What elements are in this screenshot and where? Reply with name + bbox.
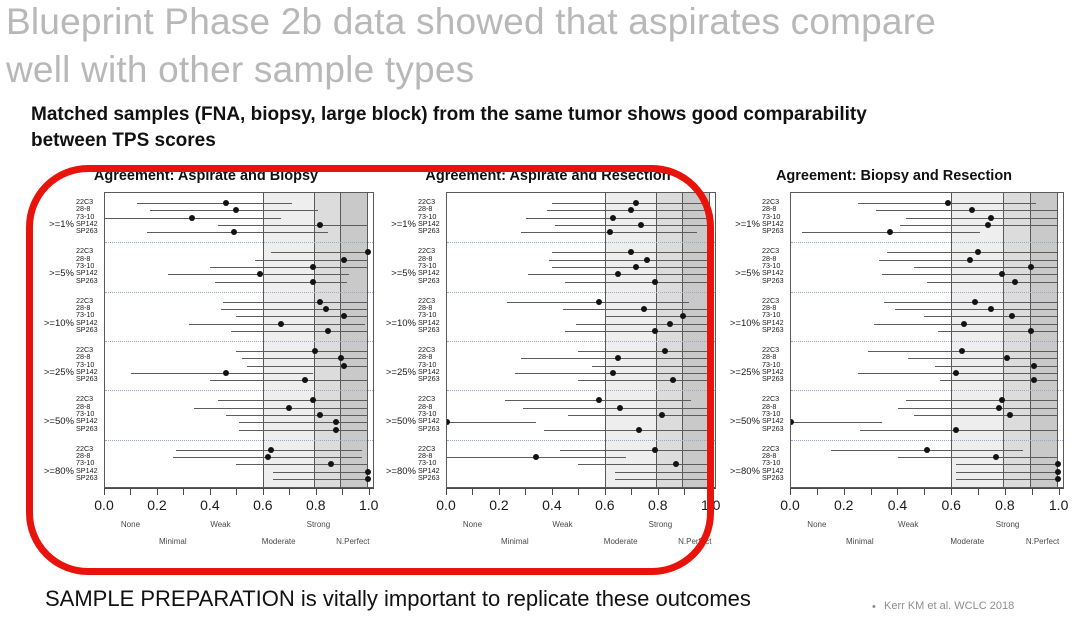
- threshold-label: >=5%: [378, 268, 416, 279]
- data-point: [662, 348, 668, 354]
- agreement-category-label: Moderate: [262, 537, 296, 546]
- axis-tick-label: 1.0: [359, 497, 378, 513]
- confidence-interval-line: [605, 316, 710, 317]
- assay-label: SP263: [76, 227, 104, 234]
- band-n-perfect: [1031, 193, 1058, 487]
- axis-tick-label: 0.0: [780, 497, 799, 513]
- band-n-perfect: [683, 193, 709, 487]
- threshold-label: >=1%: [36, 219, 74, 230]
- axis-tick-label: 0.8: [648, 497, 667, 513]
- axis-tick: [552, 488, 553, 495]
- agreement-category-label: Weak: [210, 520, 230, 529]
- row-labels: >=1%22C328-873-10SP142SP263>=5%22C328-87…: [36, 192, 104, 488]
- confidence-interval-line: [555, 225, 710, 226]
- assay-label: SP263: [762, 277, 790, 284]
- band-moderate: [605, 193, 658, 487]
- threshold-label: >=50%: [722, 416, 760, 427]
- group-divider: [447, 390, 715, 391]
- confidence-interval-line: [898, 457, 1058, 458]
- citation: Kerr KM et al. WCLC 2018: [884, 600, 1014, 612]
- row-labels: >=1%22C328-873-10SP142SP263>=5%22C328-87…: [722, 192, 790, 488]
- agreement-category-label: Moderate: [950, 537, 984, 546]
- chart-panel-aspirate-resection: Agreement: Aspirate and Resection >=1%22…: [378, 168, 718, 558]
- assay-label: SP263: [762, 474, 790, 481]
- axis-tick: [525, 488, 526, 495]
- data-point: [1007, 412, 1013, 418]
- confidence-interval-line: [935, 366, 1058, 367]
- threshold-label: >=10%: [722, 318, 760, 329]
- confidence-interval-line: [578, 380, 709, 381]
- data-point: [265, 454, 271, 460]
- data-point: [972, 299, 978, 305]
- axis-tick-label: 0.8: [995, 497, 1014, 513]
- confidence-interval-line: [791, 422, 882, 423]
- data-point: [707, 476, 713, 482]
- data-point: [1031, 363, 1037, 369]
- agreement-category-label: Minimal: [846, 537, 874, 546]
- data-point: [1028, 264, 1034, 270]
- confidence-interval-line: [239, 430, 368, 431]
- axis-tick-label: 0.4: [542, 497, 561, 513]
- group-divider: [791, 341, 1063, 342]
- axis-tick: [951, 488, 952, 495]
- data-point: [231, 229, 237, 235]
- axis-tick: [978, 488, 979, 495]
- axis-tick: [342, 488, 343, 495]
- axis-tick-label: 0.6: [595, 497, 614, 513]
- data-point: [999, 397, 1005, 403]
- confidence-interval-line: [592, 366, 710, 367]
- chart-panel-biopsy-resection: Agreement: Biopsy and Resection >=1%22C3…: [722, 168, 1066, 558]
- assay-label: SP263: [418, 227, 446, 234]
- data-point: [967, 257, 973, 263]
- agreement-category-label: Weak: [552, 520, 572, 529]
- axis-tick-label: 0.2: [489, 497, 508, 513]
- confidence-interval-line: [526, 218, 710, 219]
- data-point: [268, 447, 274, 453]
- assay-label: SP263: [418, 425, 446, 432]
- axis-tick: [499, 488, 500, 495]
- data-point: [641, 306, 647, 312]
- axis-tick: [711, 488, 712, 495]
- axis-tick: [871, 488, 872, 495]
- axis-tick: [130, 488, 131, 495]
- confidence-interval-line: [552, 267, 710, 268]
- threshold-label: >=10%: [378, 318, 416, 329]
- agreement-category-label: Strong: [996, 520, 1020, 529]
- assay-label: SP263: [76, 474, 104, 481]
- confidence-interval-line: [956, 479, 1057, 480]
- confidence-interval-line: [940, 380, 1057, 381]
- axis-line: [790, 488, 1064, 489]
- data-point: [1055, 461, 1061, 467]
- chart-panel-aspirate-biopsy: Agreement: Aspirate and Biopsy >=1%22C32…: [36, 168, 376, 558]
- confidence-interval-line: [887, 252, 1058, 253]
- axis-tick: [472, 488, 473, 495]
- axis-tick-label: 0.6: [941, 497, 960, 513]
- axis-tick: [844, 488, 845, 495]
- group-divider: [447, 242, 715, 243]
- assay-label: SP263: [76, 277, 104, 284]
- chart-title: Agreement: Aspirate and Biopsy: [36, 168, 376, 184]
- data-point: [223, 200, 229, 206]
- confidence-interval-line: [242, 358, 368, 359]
- confidence-interval-line: [938, 331, 1058, 332]
- plot-area: >=1%22C328-873-10SP142SP263>=5%22C328-87…: [378, 192, 718, 558]
- threshold-label: >=50%: [378, 416, 416, 427]
- row-labels: >=1%22C328-873-10SP142SP263>=5%22C328-87…: [378, 192, 446, 488]
- agreement-category-label: Moderate: [604, 537, 638, 546]
- assay-label: SP263: [418, 375, 446, 382]
- confidence-interval-line: [447, 422, 536, 423]
- band-moderate: [951, 193, 1004, 487]
- data-point: [310, 397, 316, 403]
- data-point: [673, 461, 679, 467]
- confidence-interval-line: [271, 252, 368, 253]
- confidence-interval-line: [218, 225, 368, 226]
- data-point: [341, 257, 347, 263]
- axis-tick: [817, 488, 818, 495]
- confidence-interval-line: [226, 415, 368, 416]
- bullet-icon: •: [872, 601, 876, 613]
- threshold-label: >=80%: [36, 466, 74, 477]
- axis-tick: [790, 488, 791, 495]
- axis-tick-label: 0.4: [888, 497, 907, 513]
- band-strong: [657, 193, 683, 487]
- data-point: [975, 249, 981, 255]
- threshold-label: >=50%: [36, 416, 74, 427]
- group-divider: [791, 390, 1063, 391]
- confidence-interval-line: [927, 282, 1058, 283]
- confidence-interval-line: [956, 464, 1057, 465]
- plot-area: >=1%22C328-873-10SP142SP263>=5%22C328-87…: [722, 192, 1066, 558]
- data-point: [652, 447, 658, 453]
- data-point: [233, 207, 239, 213]
- confidence-interval-line: [884, 302, 1057, 303]
- threshold-label: >=25%: [36, 367, 74, 378]
- confidence-interval-line: [615, 472, 710, 473]
- threshold-label: >=80%: [722, 466, 760, 477]
- data-point: [988, 306, 994, 312]
- group-divider: [791, 242, 1063, 243]
- axis-tick: [897, 488, 898, 495]
- data-point: [365, 469, 371, 475]
- data-point: [1055, 476, 1061, 482]
- confidence-interval-line: [231, 331, 368, 332]
- data-point: [996, 405, 1002, 411]
- group-divider: [447, 341, 715, 342]
- agreement-category-label: None: [463, 520, 482, 529]
- assay-label: SP263: [418, 277, 446, 284]
- axis-tick: [316, 488, 317, 495]
- data-point: [887, 229, 893, 235]
- axis-tick-label: 0.4: [200, 497, 219, 513]
- agreement-category-label: N.Perfect: [1026, 537, 1059, 546]
- data-point: [707, 363, 713, 369]
- assay-label: SP263: [76, 425, 104, 432]
- data-point: [610, 215, 616, 221]
- data-point: [636, 427, 642, 433]
- chart-title: Agreement: Biopsy and Resection: [722, 168, 1066, 184]
- data-point: [446, 419, 450, 425]
- agreement-category-label: Strong: [307, 520, 331, 529]
- confidence-interval-line: [239, 422, 368, 423]
- data-point: [988, 215, 994, 221]
- data-point: [652, 279, 658, 285]
- assay-label: SP263: [76, 375, 104, 382]
- confidence-interval-line: [137, 203, 292, 204]
- confidence-interval-line: [221, 309, 368, 310]
- axis-tick-label: 0.0: [94, 497, 113, 513]
- confidence-interval-line: [615, 479, 710, 480]
- confidence-interval-line: [552, 203, 710, 204]
- agreement-category-label: Weak: [898, 520, 918, 529]
- data-point: [310, 279, 316, 285]
- confidence-interval-line: [908, 358, 1057, 359]
- assay-label: SP263: [418, 474, 446, 481]
- confidence-interval-line: [273, 479, 368, 480]
- plot-area: >=1%22C328-873-10SP142SP263>=5%22C328-87…: [36, 192, 376, 558]
- agreement-category-label: Minimal: [159, 537, 187, 546]
- axis-tick: [924, 488, 925, 495]
- data-point: [596, 397, 602, 403]
- axis-tick-label: 0.8: [306, 497, 325, 513]
- page-title: Blueprint Phase 2b data showed that aspi…: [6, 0, 1076, 94]
- axis-tick: [183, 488, 184, 495]
- confidence-interval-line: [218, 400, 368, 401]
- agreement-category-label: Strong: [649, 520, 673, 529]
- confidence-interval-line: [576, 324, 710, 325]
- confidence-interval-line: [549, 260, 709, 261]
- assay-label: SP263: [418, 326, 446, 333]
- threshold-label: >=1%: [378, 219, 416, 230]
- confidence-interval-line: [565, 282, 710, 283]
- agreement-category-label: None: [807, 520, 826, 529]
- data-point: [278, 321, 284, 327]
- confidence-interval-line: [578, 464, 709, 465]
- plot-box: [790, 192, 1064, 488]
- agreement-category-label: N.Perfect: [336, 537, 369, 546]
- confidence-interval-line: [223, 302, 368, 303]
- band-moderate: [263, 193, 316, 487]
- confidence-interval-line: [255, 260, 368, 261]
- confidence-interval-line: [876, 210, 1057, 211]
- confidence-interval-line: [544, 430, 710, 431]
- group-divider: [447, 292, 715, 293]
- confidence-interval-line: [563, 309, 710, 310]
- confidence-interval-line: [236, 351, 367, 352]
- data-point: [644, 257, 650, 263]
- threshold-label: >=25%: [722, 367, 760, 378]
- data-point: [310, 264, 316, 270]
- axis-tick: [605, 488, 606, 495]
- data-point: [341, 363, 347, 369]
- axis-tick-label: 1.0: [701, 497, 720, 513]
- axis-tick: [210, 488, 211, 495]
- confidence-interval-line: [956, 472, 1057, 473]
- confidence-interval-line: [194, 408, 367, 409]
- assay-label: SP263: [762, 425, 790, 432]
- assay-label: SP263: [762, 375, 790, 382]
- assay-label: SP263: [762, 227, 790, 234]
- group-divider: [447, 440, 715, 441]
- confidence-interval-line: [914, 267, 1058, 268]
- data-point: [633, 200, 639, 206]
- agreement-category-label: N.Perfect: [678, 537, 711, 546]
- data-point: [533, 454, 539, 460]
- x-axis: 0.00.20.40.60.81.0NoneWeakStrongMinimalM…: [790, 488, 1064, 558]
- data-point: [223, 370, 229, 376]
- group-divider: [105, 341, 373, 342]
- confidence-interval-line: [273, 472, 368, 473]
- data-point: [333, 427, 339, 433]
- data-point: [924, 447, 930, 453]
- axis-tick-label: 0.0: [436, 497, 455, 513]
- axis-tick: [236, 488, 237, 495]
- x-axis: 0.00.20.40.60.81.0NoneWeakStrongMinimalM…: [446, 488, 716, 558]
- confidence-interval-line: [236, 316, 367, 317]
- band-strong: [315, 193, 341, 487]
- data-point: [286, 405, 292, 411]
- axis-tick: [157, 488, 158, 495]
- data-point: [596, 299, 602, 305]
- confidence-interval-line: [236, 464, 367, 465]
- data-point: [1012, 279, 1018, 285]
- confidence-interval-line: [578, 351, 709, 352]
- confidence-interval-line: [924, 316, 1057, 317]
- confidence-interval-line: [906, 400, 1058, 401]
- confidence-interval-line: [210, 267, 368, 268]
- axis-tick: [104, 488, 105, 495]
- x-axis: 0.00.20.40.60.81.0NoneWeakStrongMinimalM…: [104, 488, 374, 558]
- threshold-label: >=5%: [722, 268, 760, 279]
- slide-subtitle: Matched samples (FNA, biopsy, large bloc…: [31, 102, 1073, 154]
- slide-footer-text: SAMPLE PREPARATION is vitally important …: [45, 586, 751, 612]
- data-point: [610, 370, 616, 376]
- threshold-label: >=10%: [36, 318, 74, 329]
- confidence-interval-line: [560, 450, 710, 451]
- confidence-interval-line: [906, 218, 1058, 219]
- confidence-interval-line: [882, 274, 1058, 275]
- assay-label: SP263: [76, 326, 104, 333]
- data-point: [959, 348, 965, 354]
- confidence-interval-line: [131, 373, 312, 374]
- confidence-interval-line: [898, 408, 1058, 409]
- data-point: [790, 419, 794, 425]
- data-point: [365, 476, 371, 482]
- group-divider: [791, 292, 1063, 293]
- group-divider: [105, 242, 373, 243]
- confidence-interval-line: [247, 366, 368, 367]
- axis-tick: [658, 488, 659, 495]
- confidence-interval-line: [900, 225, 1057, 226]
- group-divider: [105, 292, 373, 293]
- axis-tick-label: 0.2: [834, 497, 853, 513]
- agreement-category-label: None: [121, 520, 140, 529]
- group-divider: [105, 440, 373, 441]
- axis-tick-label: 0.2: [147, 497, 166, 513]
- axis-tick: [1032, 488, 1033, 495]
- data-point: [652, 328, 658, 334]
- axis-line: [104, 488, 374, 489]
- confidence-interval-line: [210, 380, 368, 381]
- assay-label: SP263: [762, 326, 790, 333]
- confidence-interval-line: [568, 415, 710, 416]
- axis-tick: [578, 488, 579, 495]
- axis-tick: [263, 488, 264, 495]
- band-n-perfect: [341, 193, 367, 487]
- confidence-interval-line: [895, 309, 1058, 310]
- agreement-category-label: Minimal: [501, 537, 529, 546]
- slide-canvas: Blueprint Phase 2b data showed that aspi…: [0, 0, 1080, 623]
- data-point: [1055, 469, 1061, 475]
- confidence-interval-line: [215, 282, 346, 283]
- axis-tick: [684, 488, 685, 495]
- axis-tick: [446, 488, 447, 495]
- data-point: [365, 249, 371, 255]
- axis-tick-label: 1.0: [1049, 497, 1068, 513]
- data-point: [189, 215, 195, 221]
- group-divider: [791, 440, 1063, 441]
- axis-tick: [1059, 488, 1060, 495]
- band-strong: [1004, 193, 1031, 487]
- axis-line: [446, 488, 716, 489]
- data-point: [707, 469, 713, 475]
- confidence-interval-line: [914, 415, 1058, 416]
- plot-box: [104, 192, 374, 488]
- confidence-interval-line: [147, 232, 328, 233]
- axis-tick: [631, 488, 632, 495]
- axis-tick: [1005, 488, 1006, 495]
- axis-tick: [369, 488, 370, 495]
- data-point: [323, 306, 329, 312]
- threshold-label: >=5%: [36, 268, 74, 279]
- group-divider: [105, 390, 373, 391]
- confidence-interval-line: [565, 331, 710, 332]
- threshold-label: >=25%: [378, 367, 416, 378]
- axis-tick: [289, 488, 290, 495]
- axis-tick-label: 0.6: [253, 497, 272, 513]
- threshold-label: >=80%: [378, 466, 416, 477]
- plot-box: [446, 192, 716, 488]
- threshold-label: >=1%: [722, 219, 760, 230]
- chart-title: Agreement: Aspirate and Resection: [378, 168, 718, 184]
